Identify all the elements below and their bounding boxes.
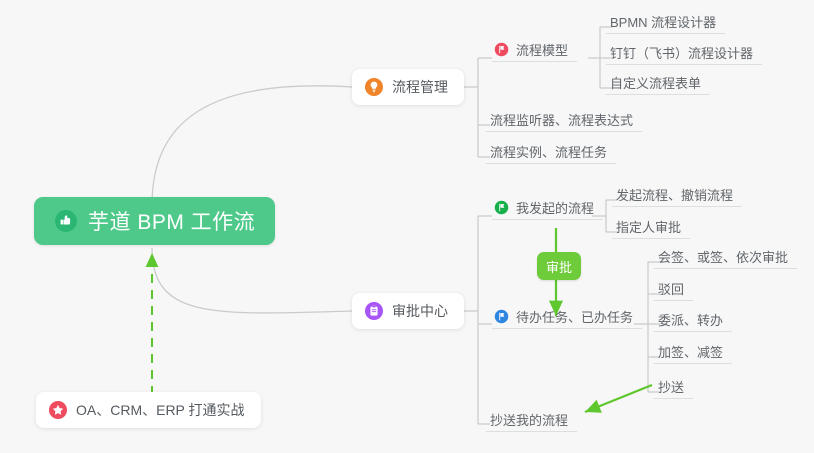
star-icon (48, 400, 68, 420)
node-my-initiated[interactable]: 我发起的流程 (492, 190, 603, 220)
flag-icon (494, 309, 509, 324)
node-label: 驳回 (658, 283, 684, 296)
node-label: 流程实例、流程任务 (490, 146, 607, 159)
branch-label: 审批中心 (392, 301, 448, 321)
node-label: 自定义流程表单 (610, 77, 701, 90)
node-label: 发起流程、撤销流程 (616, 189, 733, 202)
thumbs-up-icon (54, 209, 78, 233)
node-label: 加签、减签 (658, 346, 723, 359)
node-reject[interactable]: 驳回 (654, 271, 693, 301)
root-node[interactable]: 芋道 BPM 工作流 (34, 197, 275, 245)
node-custom-process-form[interactable]: 自定义流程表单 (606, 65, 710, 95)
mindmap-canvas: 芋道 BPM 工作流 OA、CRM、ERP 打通实战 流程管理 (0, 0, 814, 453)
flag-icon (494, 42, 509, 57)
node-todo-done-tasks[interactable]: 待办任务、已办任务 (492, 299, 642, 329)
branch-process-management[interactable]: 流程管理 (352, 69, 464, 105)
node-cc[interactable]: 抄送 (654, 369, 693, 399)
node-label: 委派、转办 (658, 314, 723, 327)
node-bpmn-designer[interactable]: BPMN 流程设计器 (606, 4, 725, 34)
node-label: 指定人审批 (616, 221, 681, 234)
footer-note-label: OA、CRM、ERP 打通实战 (76, 400, 245, 420)
node-label: 流程监听器、流程表达式 (490, 114, 633, 127)
node-start-cancel[interactable]: 发起流程、撤销流程 (612, 177, 742, 207)
approval-badge-label: 审批 (546, 257, 572, 276)
root-label: 芋道 BPM 工作流 (88, 206, 255, 236)
node-add-remove-sign[interactable]: 加签、减签 (654, 334, 732, 364)
lightbulb-icon (364, 77, 384, 97)
node-label: BPMN 流程设计器 (610, 16, 716, 29)
clipboard-icon (364, 301, 384, 321)
node-listener-expression[interactable]: 流程监听器、流程表达式 (486, 102, 642, 132)
node-label: 待办任务、已办任务 (516, 311, 633, 324)
node-label: 抄送我的流程 (490, 414, 568, 427)
approval-badge: 审批 (537, 252, 581, 280)
flag-icon (494, 200, 509, 215)
node-delegate-transfer[interactable]: 委派、转办 (654, 302, 732, 332)
footer-note[interactable]: OA、CRM、ERP 打通实战 (36, 392, 261, 428)
branch-approval-center[interactable]: 审批中心 (352, 293, 464, 329)
node-label: 会签、或签、依次审批 (658, 251, 788, 264)
node-label: 抄送 (658, 381, 684, 394)
node-label: 我发起的流程 (516, 202, 594, 215)
branch-label: 流程管理 (392, 77, 448, 97)
node-dingtalk-feishu-designer[interactable]: 钉钉（飞书）流程设计器 (606, 35, 762, 65)
node-assignee-approval[interactable]: 指定人审批 (612, 209, 690, 239)
node-process-model[interactable]: 流程模型 (492, 32, 577, 62)
node-label: 流程模型 (516, 44, 568, 57)
node-instance-task[interactable]: 流程实例、流程任务 (486, 134, 616, 164)
node-counter-or-sequential[interactable]: 会签、或签、依次审批 (654, 239, 797, 269)
node-label: 钉钉（飞书）流程设计器 (610, 47, 753, 60)
node-cc-to-me[interactable]: 抄送我的流程 (486, 402, 577, 432)
